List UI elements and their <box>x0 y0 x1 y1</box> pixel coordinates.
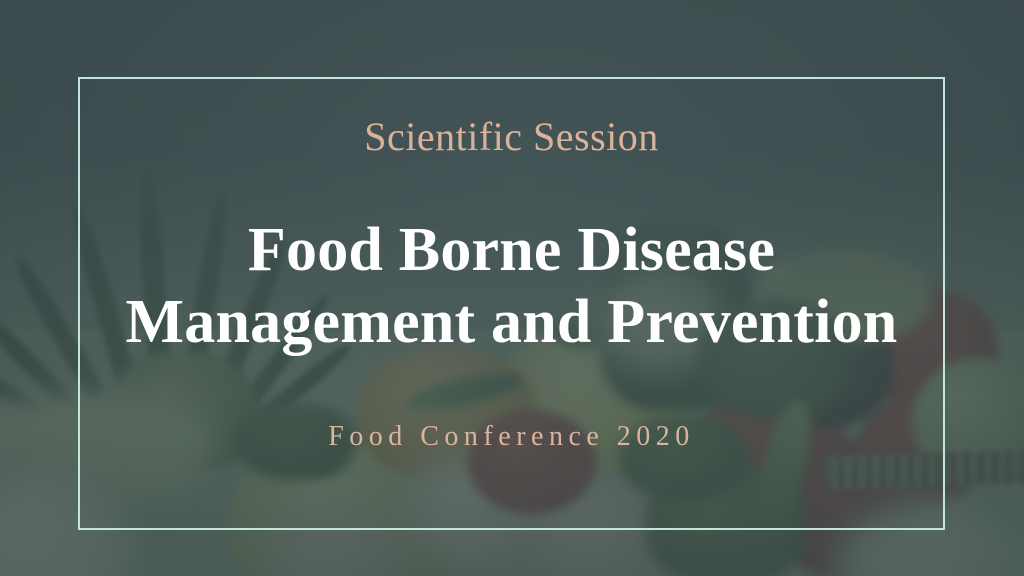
title-slide: Scientific Session Food Borne Disease Ma… <box>0 0 1024 576</box>
page-title-line-2: Management and Prevention <box>126 287 898 359</box>
conference-footer: Food Conference 2020 <box>328 421 695 453</box>
slide-content: Scientific Session Food Borne Disease Ma… <box>78 77 945 530</box>
page-title-line-1: Food Borne Disease <box>126 215 898 287</box>
page-title: Food Borne Disease Management and Preven… <box>126 215 898 359</box>
session-eyebrow: Scientific Session <box>364 115 659 159</box>
